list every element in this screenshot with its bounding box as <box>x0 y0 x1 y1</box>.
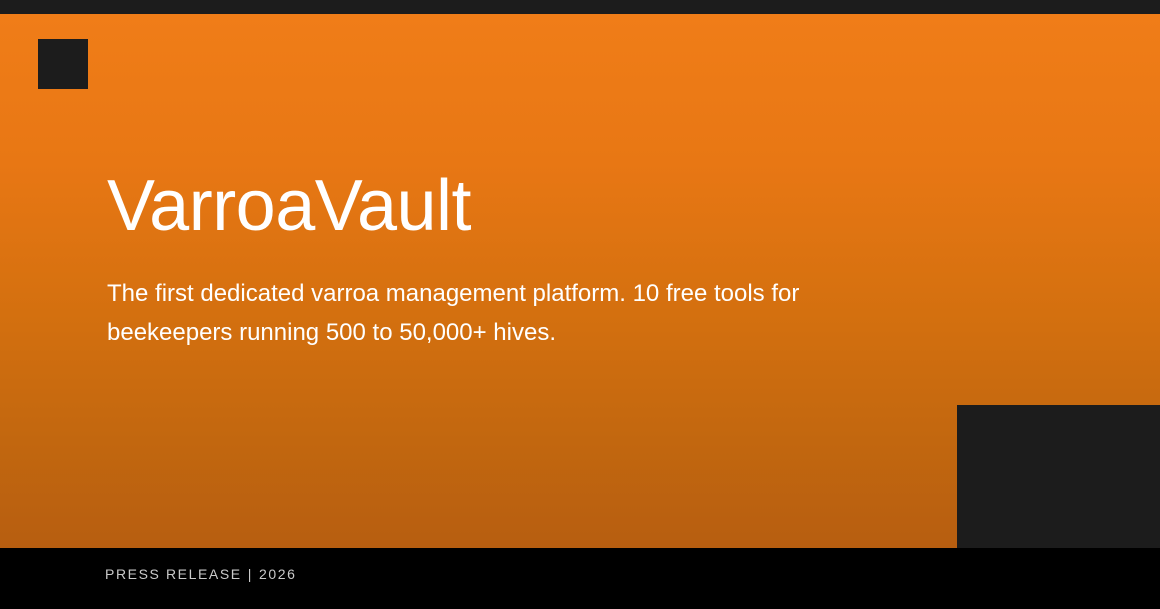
page-title: VarroaVault <box>107 164 927 248</box>
square-logo-mark <box>38 39 88 89</box>
footer-year: 2026 <box>259 566 297 582</box>
footer-meta: PRESS RELEASE|2026 <box>105 565 297 583</box>
top-accent-band <box>0 0 1160 14</box>
footer-label: PRESS RELEASE <box>105 566 242 582</box>
footer-separator: | <box>242 566 259 582</box>
hero-subtitle: The first dedicated varroa management pl… <box>107 248 907 352</box>
hero-content: VarroaVault The first dedicated varroa m… <box>107 164 927 352</box>
title-slide: VarroaVault The first dedicated varroa m… <box>0 0 1160 609</box>
hero-stage: VarroaVault The first dedicated varroa m… <box>0 14 1160 548</box>
decorative-corner-block <box>957 405 1160 548</box>
